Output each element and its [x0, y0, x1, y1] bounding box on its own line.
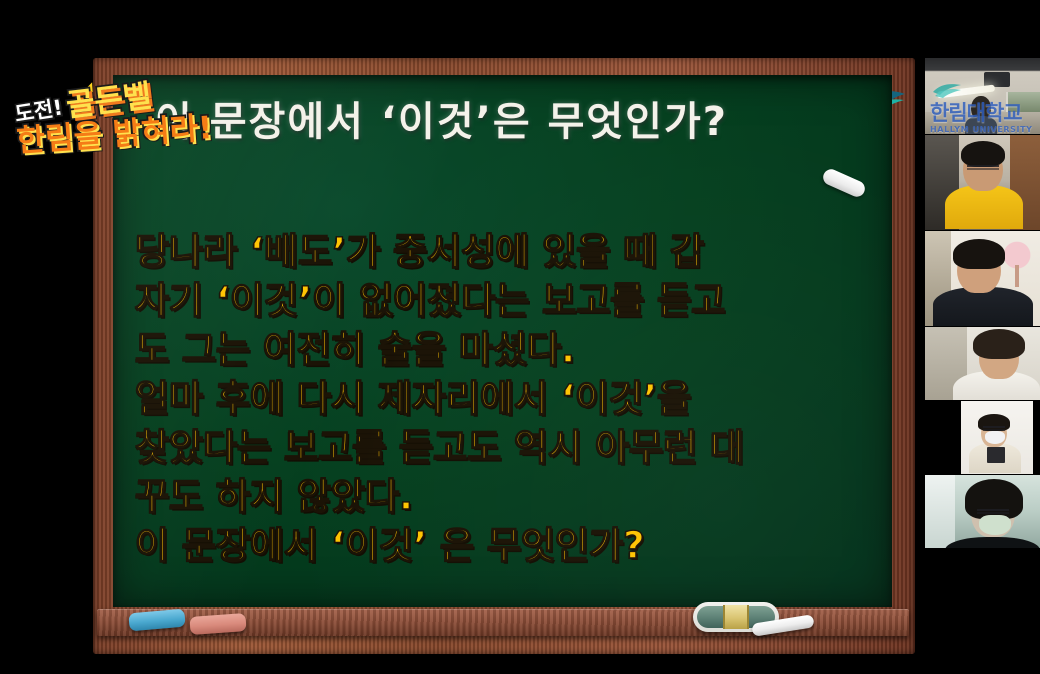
video-tile-dark-shirt[interactable] [925, 230, 1040, 326]
video-participant-column: 한림대학교 HALLYM UNIVERSITY [925, 58, 1040, 500]
person-hair [961, 141, 1005, 167]
tile-background [925, 231, 1040, 326]
blackboard-question-body: 당나라 ‘배도’가 중서성에 있을 때 갑 자기 ‘이것’이 없어졌다는 보고를… [135, 227, 878, 570]
wall-left [925, 475, 955, 548]
question-line: 찾았다는 보고를 듣고도 역시 아무런 대 [135, 423, 878, 472]
watermark-korean: 한림대학교 [930, 103, 1035, 124]
blackboard-title: 이 문장에서 ‘이것’은 무엇인가? [155, 89, 878, 147]
person-hair [973, 329, 1025, 359]
broadcast-stage: 이 문장에서 ‘이것’은 무엇인가? 당나라 ‘배도’가 중서성에 있을 때 갑… [0, 0, 1040, 674]
question-line: 이 문장에서 ‘이것’ 은 무엇인가? [135, 521, 878, 570]
tree-trunk [1015, 265, 1019, 287]
video-tile-white-shirt[interactable] [925, 326, 1040, 400]
tile-background [925, 327, 1040, 400]
face-mask [979, 515, 1011, 535]
white-chalk-on-board-icon [821, 167, 868, 200]
program-logo: 도전! 골든벨 한림을 밝혀라! [13, 79, 208, 176]
video-tile-masked-glasses[interactable] [925, 400, 1040, 474]
question-line: 얼마 후에 다시 제자리에서 ‘이것’을 [135, 374, 878, 423]
shirt-print [987, 447, 1005, 463]
watermark-wave-icon [932, 81, 962, 99]
question-line: 당나라 ‘배도’가 중서성에 있을 때 갑 [135, 227, 878, 276]
person-glasses [967, 165, 999, 170]
face-mask [985, 431, 1005, 444]
person-body [945, 537, 1040, 548]
question-line: 자기 ‘이것’이 없어졌다는 보고를 듣고 [135, 276, 878, 325]
eraser-band [723, 605, 749, 629]
tile-background [925, 475, 1040, 548]
person-glasses [977, 509, 1009, 514]
question-line: 도 그는 여전히 술을 마셨다. [135, 325, 878, 374]
person-hair [953, 239, 1005, 269]
question-line: 꾸도 하지 않았다. [135, 472, 878, 521]
video-tile-classroom[interactable]: 한림대학교 HALLYM UNIVERSITY [925, 58, 1040, 134]
blackboard-surface: 이 문장에서 ‘이것’은 무엇인가? 당나라 ‘배도’가 중서성에 있을 때 갑… [113, 75, 892, 607]
blackboard: 이 문장에서 ‘이것’은 무엇인가? 당나라 ‘배도’가 중서성에 있을 때 갑… [93, 58, 915, 654]
video-tile-masked-long-hair[interactable] [925, 474, 1040, 548]
tile-background [925, 135, 1040, 230]
tile-background [925, 401, 1040, 474]
hallym-watermark: 한림대학교 HALLYM UNIVERSITY [930, 103, 1035, 134]
person-body [945, 185, 1023, 229]
watermark-english: HALLYM UNIVERSITY [930, 126, 1035, 134]
video-tile-yellow-shirt[interactable] [925, 134, 1040, 230]
